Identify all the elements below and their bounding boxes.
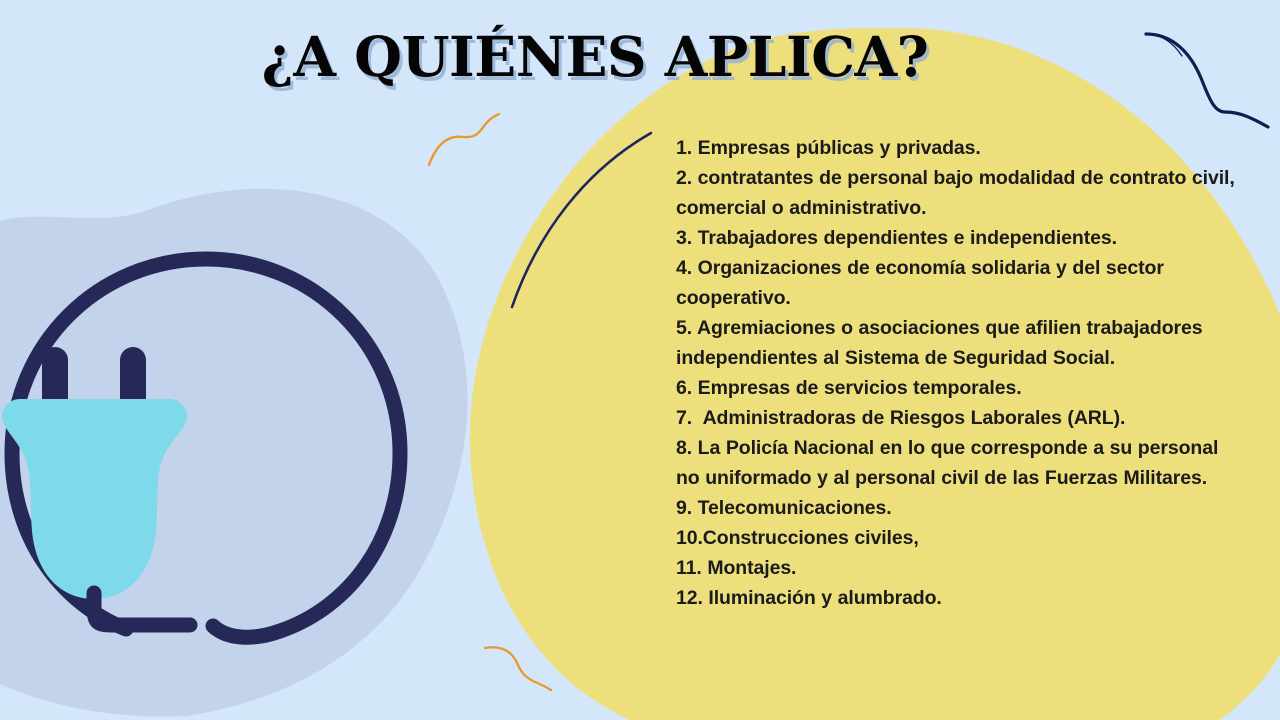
plug-cord-tail xyxy=(94,593,190,625)
list-item: 11. Montajes. xyxy=(676,553,1242,583)
list-item: 12. Iluminación y alumbrado. xyxy=(676,583,1242,613)
list-item: 1. Empresas públicas y privadas. xyxy=(676,133,1242,163)
list-item: 4. Organizaciones de economía solidaria … xyxy=(676,253,1242,313)
applicability-list: 1. Empresas públicas y privadas. 2. cont… xyxy=(676,133,1242,613)
list-item: 3. Trabajadores dependientes e independi… xyxy=(676,223,1242,253)
list-item: 9. Telecomunicaciones. xyxy=(676,493,1242,523)
list-item: 2. contratantes de personal bajo modalid… xyxy=(676,163,1242,223)
page-title: ¿A QUIÉNES APLICA? xyxy=(0,28,1190,86)
slide-canvas: ¿A QUIÉNES APLICA? 1. Empresas públicas … xyxy=(0,0,1280,720)
list-item: 5. Agremiaciones o asociaciones que afil… xyxy=(676,313,1242,373)
list-item: 7. Administradoras de Riesgos Laborales … xyxy=(676,403,1242,433)
list-item: 8. La Policía Nacional en lo que corresp… xyxy=(676,433,1242,493)
orange-squiggle-top-decoration xyxy=(429,114,499,165)
electric-plug-icon xyxy=(0,185,500,720)
list-item: 6. Empresas de servicios temporales. xyxy=(676,373,1242,403)
navy-arc-decoration xyxy=(512,133,651,307)
list-item: 10.Construcciones civiles, xyxy=(676,523,1242,553)
plug-body xyxy=(2,399,187,599)
